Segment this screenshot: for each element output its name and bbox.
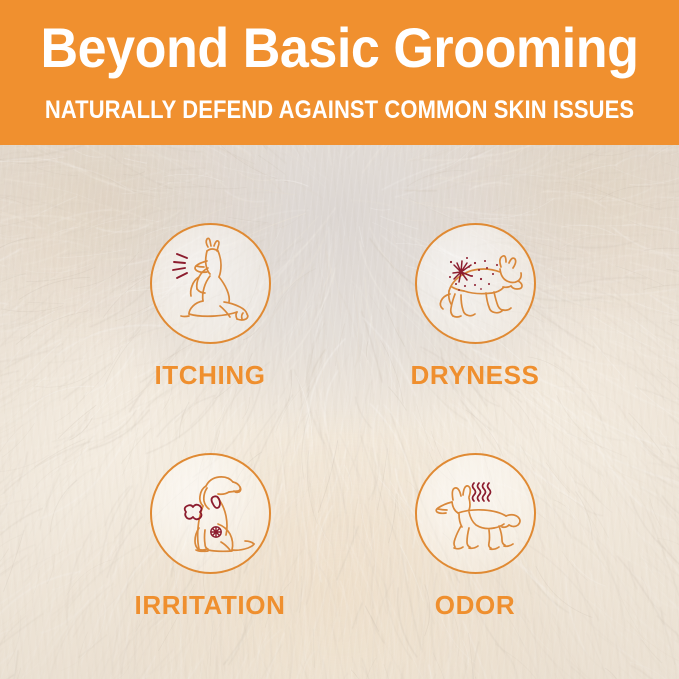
feature-label-irritation: IRRITATION xyxy=(90,590,330,620)
dog-scratching-icon xyxy=(158,232,262,336)
product-feature-poster: Beyond Basic Grooming NATURALLY DEFEND A… xyxy=(0,0,679,679)
feature-icon-circle-itching xyxy=(150,223,271,344)
dog-odor-icon xyxy=(423,462,527,566)
feature-item-itching[interactable]: ITCHING xyxy=(90,223,330,390)
header-band: Beyond Basic Grooming NATURALLY DEFEND A… xyxy=(0,0,679,145)
feature-item-irritation[interactable]: IRRITATION xyxy=(90,453,330,620)
feature-item-odor[interactable]: ODOR xyxy=(355,453,595,620)
page-title: Beyond Basic Grooming xyxy=(24,17,655,79)
feature-icon-circle-odor xyxy=(415,453,536,574)
feature-icon-circle-dryness xyxy=(415,223,536,344)
page-subtitle: NATURALLY DEFEND AGAINST COMMON SKIN ISS… xyxy=(41,96,639,124)
feature-icon-circle-irritation xyxy=(150,453,271,574)
feature-label-dryness: DRYNESS xyxy=(355,360,595,390)
feature-label-itching: ITCHING xyxy=(90,360,330,390)
feature-grid: ITCHING xyxy=(0,145,679,679)
dog-irritated-skin-icon xyxy=(158,462,262,566)
feature-item-dryness[interactable]: DRYNESS xyxy=(355,223,595,390)
feature-label-odor: ODOR xyxy=(355,590,595,620)
dog-flaky-skin-icon xyxy=(423,232,527,336)
